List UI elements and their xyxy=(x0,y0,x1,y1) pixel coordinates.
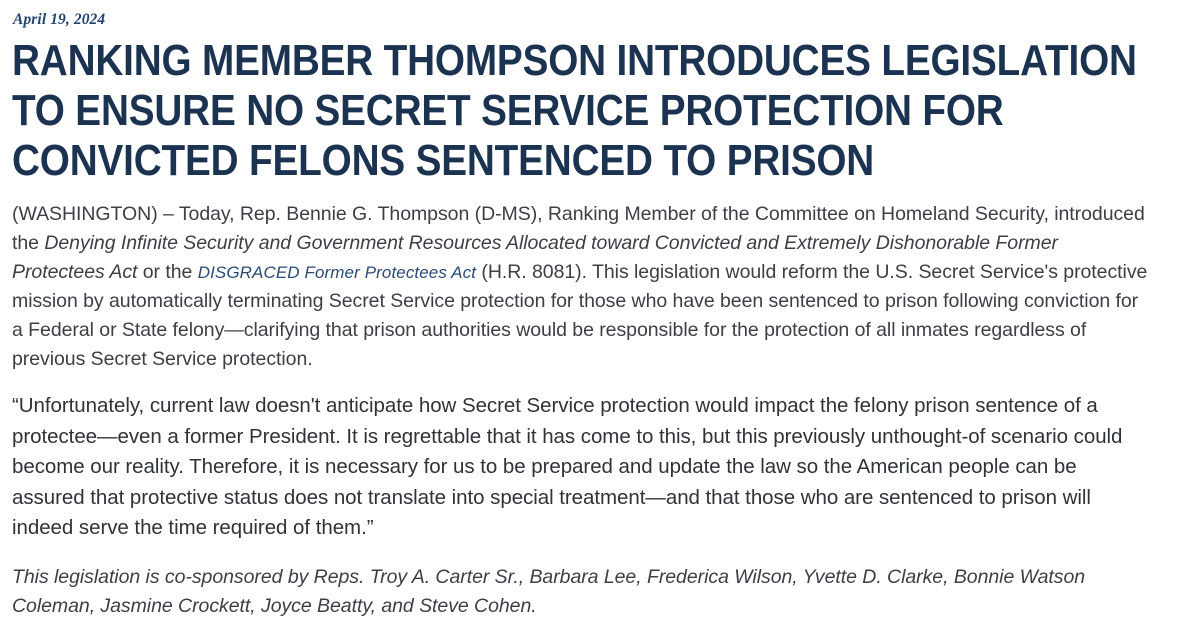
lead-text-between-titles: or the xyxy=(137,261,197,283)
cosponsors-paragraph: This legislation is co-sponsored by Reps… xyxy=(12,563,1142,621)
page-title: RANKING MEMBER THOMPSON INTRODUCES LEGIS… xyxy=(12,36,1188,186)
bill-short-title: DISGRACED Former Protectees Act xyxy=(198,263,476,282)
publication-date: April 19, 2024 xyxy=(13,10,1188,30)
thompson-quote-paragraph: “Unfortunately, current law doesn't anti… xyxy=(12,391,1147,544)
lead-paragraph: (WASHINGTON) – Today, Rep. Bennie G. Tho… xyxy=(12,200,1152,374)
press-release-article: April 19, 2024 RANKING MEMBER THOMPSON I… xyxy=(0,0,1200,621)
